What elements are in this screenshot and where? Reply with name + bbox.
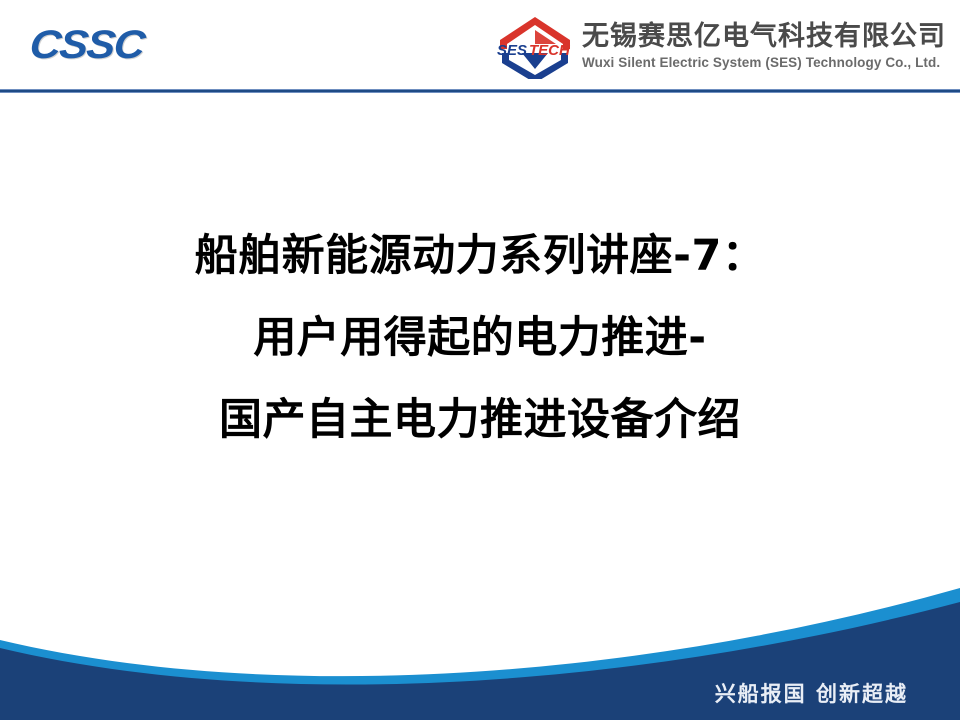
svg-text:TECH: TECH [529,42,571,59]
header-divider [0,89,960,93]
presentation-slide: CSSC SES TECH 无锡赛思亿电气 [0,0,960,720]
sestech-logo-block: SES TECH 无锡赛思亿电气科技有限公司 Wuxi Silent Elect… [496,8,946,84]
title-line-2: 用户用得起的电力推进- [0,297,960,379]
slide-header: CSSC SES TECH 无锡赛思亿电气 [0,0,960,90]
title-line-3: 国产自主电力推进设备介绍 [0,379,960,461]
sestech-company-names: 无锡赛思亿电气科技有限公司 Wuxi Silent Electric Syste… [582,21,946,72]
slide-title: 船舶新能源动力系列讲座-7： 用户用得起的电力推进- 国产自主电力推进设备介绍 [0,215,960,461]
company-name-en: Wuxi Silent Electric System (SES) Techno… [582,54,946,72]
title-line-1: 船舶新能源动力系列讲座-7： [0,215,960,297]
footer-wave-decoration: 兴船报国 创新超越 [0,580,960,720]
footer-slogan: 兴船报国 创新超越 [715,678,908,708]
sestech-logo-mark: SES TECH [496,13,574,79]
sestech-mark-svg: SES TECH [496,13,574,79]
company-name-cn: 无锡赛思亿电气科技有限公司 [582,21,946,53]
svg-text:SES: SES [497,42,527,59]
cssc-logo: CSSC [30,22,190,68]
cssc-wordmark: CSSC [28,22,206,68]
